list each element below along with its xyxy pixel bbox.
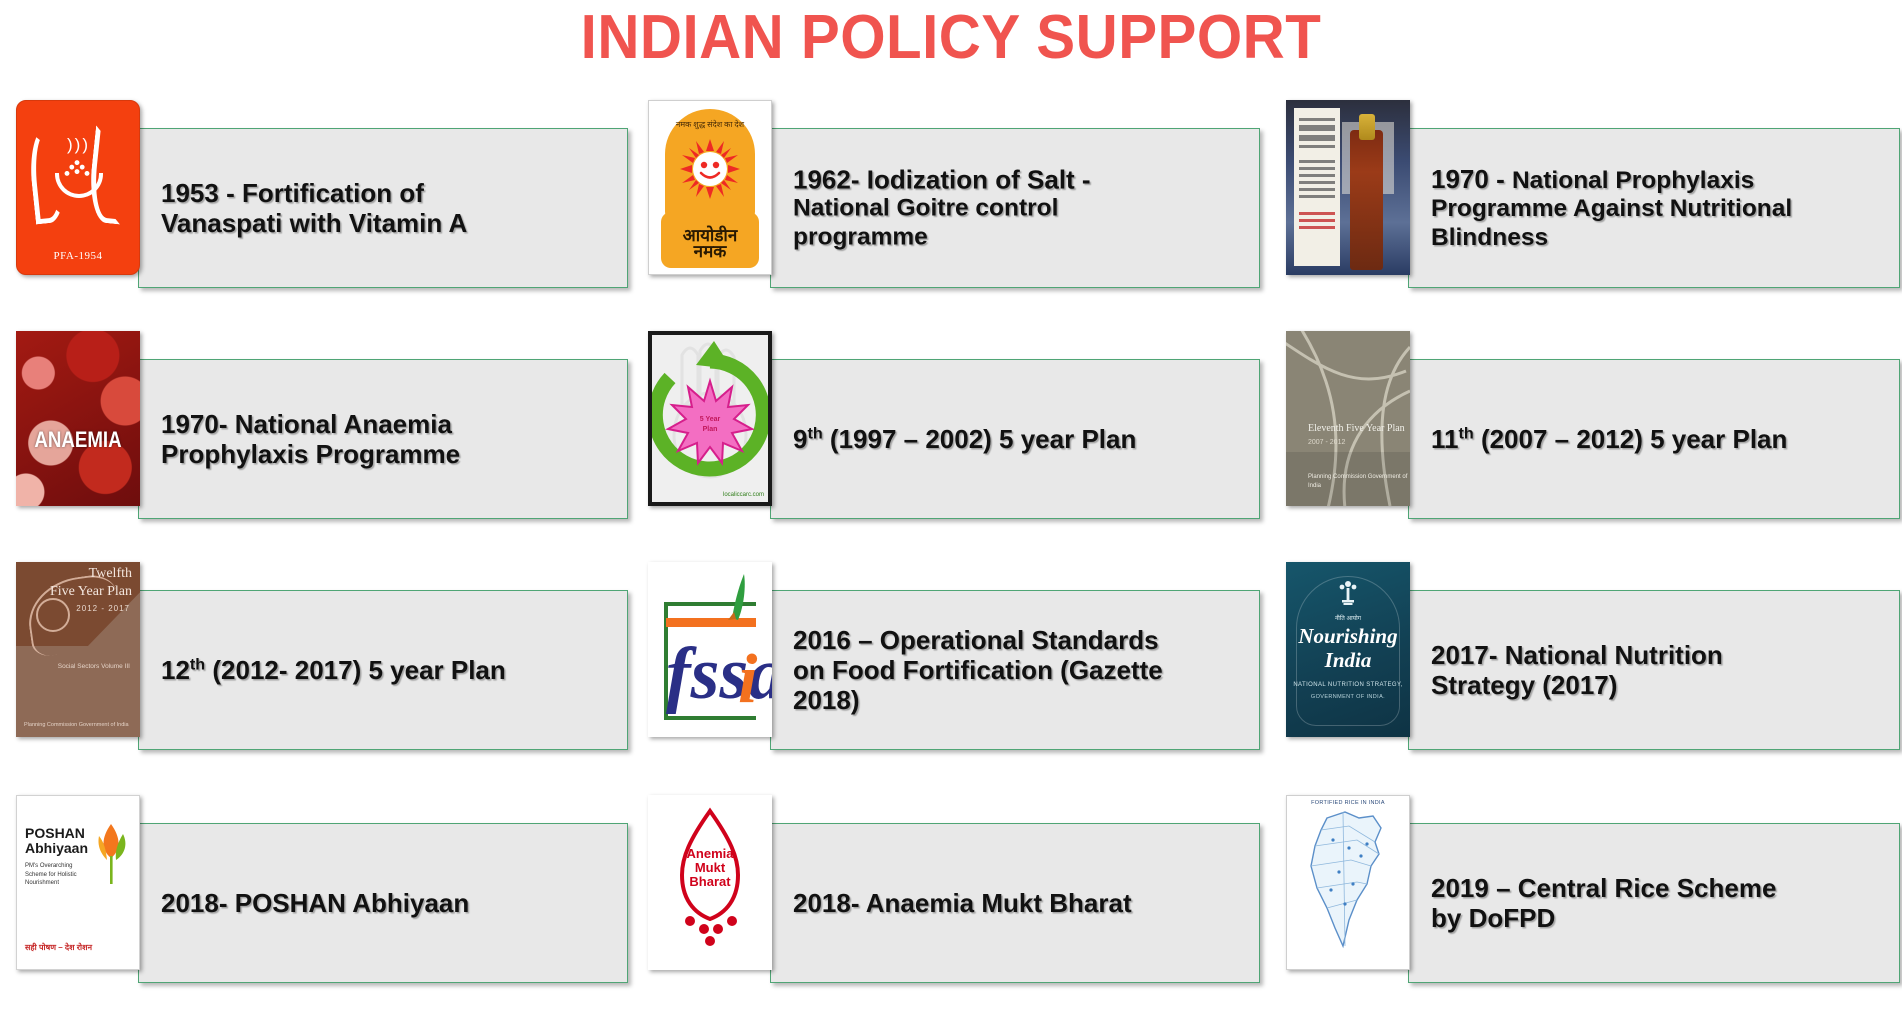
anemia-mukt-bharat-logo: Anemia Mukt Bharat — [648, 795, 772, 970]
card-rice-2019[interactable]: 2019 – Central Rice Scheme by DoFPD FORT… — [1278, 795, 1900, 995]
poshan-title: POSHAN Abhiyaan — [25, 826, 88, 855]
plan-ordinal-suffix: th — [190, 655, 205, 673]
card-twelfth-plan[interactable]: 12th (2012- 2017) 5 year Plan Twelfth Fi… — [8, 562, 628, 762]
vitamin-a-solution-bottle-photo — [1286, 100, 1410, 275]
card-panel: 2016 – Operational Standards on Food For… — [770, 590, 1260, 750]
cover-years: 2012 - 2017 — [76, 604, 130, 613]
poshan-abhiyaan-logo: POSHAN Abhiyaan PM's Overarching Scheme … — [16, 795, 140, 970]
card-line-1: 1970 - — [1431, 164, 1512, 194]
card-line-2: Strategy (2017) — [1431, 670, 1889, 700]
timeline-row-3: 12th (2012- 2017) 5 year Plan Twelfth Fi… — [0, 562, 1902, 762]
card-amb-2018[interactable]: 2018- Anaemia Mukt Bharat Anemia Mukt Bh… — [640, 795, 1260, 995]
card-text: 9th (1997 – 2002) 5 year Plan — [793, 424, 1249, 454]
hindi-line-2: नमक — [649, 244, 771, 260]
cover-strategy-line-1: NATIONAL NUTRITION STRATEGY, — [1286, 682, 1410, 688]
cover-publisher: Planning Commission Government of India — [24, 721, 129, 729]
card-panel: 11th (2007 – 2012) 5 year Plan — [1408, 359, 1900, 519]
card-line-1: 2016 – Operational Standards — [793, 625, 1249, 655]
card-line-2: National Goitre control — [793, 195, 1249, 223]
pfa-label: PFA-1954 — [17, 250, 139, 262]
card-line-1: 1970- National Anaemia — [161, 409, 617, 439]
bottle-gold-cap — [1359, 114, 1375, 140]
card-text: 1970 - National Prophylaxis Programme Ag… — [1431, 164, 1889, 252]
cover-strategy-line-2: GOVERNMENT OF INDIA. — [1286, 694, 1410, 700]
card-line-3: 2018) — [793, 685, 1249, 715]
five-year-plan-logo: 5 Year Plan localiccarc.com — [648, 331, 772, 506]
anaemia-word: ANAEMIA — [25, 427, 130, 453]
card-text: 1953 - Fortification of Vanaspati with V… — [161, 178, 617, 238]
card-text: 2018- POSHAN Abhiyaan — [161, 888, 617, 918]
cover-title: Eleventh Five Year Plan — [1308, 423, 1405, 434]
cover-gov-text: नीति आयोग — [1286, 614, 1410, 622]
poshan-title-line-2: Abhiyaan — [25, 841, 88, 856]
smiling-sun-icon — [680, 139, 740, 199]
amb-line-2: Mukt — [648, 861, 772, 875]
card-text: 11th (2007 – 2012) 5 year Plan — [1431, 424, 1889, 454]
card-line-1: 1953 - Fortification of — [161, 178, 617, 208]
cover-footer: Planning Commission Government of India — [1308, 473, 1410, 492]
poshan-subtitle: PM's Overarching Scheme for Holistic Nou… — [25, 862, 91, 888]
plan-graphic: 5 Year Plan — [652, 335, 768, 502]
logo-credit: localiccarc.com — [723, 492, 764, 498]
card-line-4: Blindness — [1431, 224, 1889, 252]
card-text: 12th (2012- 2017) 5 year Plan — [161, 655, 617, 685]
policy-timeline-grid: 1953 - Fortification of Vanaspati with V… — [0, 100, 1902, 1020]
card-text: 1962- Iodization of Salt - National Goit… — [793, 165, 1249, 252]
card-panel: 1970 - National Prophylaxis Programme Ag… — [1408, 128, 1900, 288]
card-text: 2018- Anaemia Mukt Bharat — [793, 888, 1249, 918]
plan-ordinal: 12 — [161, 655, 190, 685]
product-label — [1294, 108, 1340, 266]
eleventh-five-year-plan-cover: Eleventh Five Year Plan 2007 - 2012 Plan… — [1286, 331, 1410, 506]
card-panel: 12th (2012- 2017) 5 year Plan — [138, 590, 628, 750]
card-panel: 2018- POSHAN Abhiyaan — [138, 823, 628, 983]
card-line-3: Programme Against Nutritional — [1431, 195, 1889, 223]
poshan-tagline: सही पोषण – देश रोशन — [25, 942, 92, 953]
card-line-1: 2019 – Central Rice Scheme — [1431, 873, 1889, 903]
card-panel: 9th (1997 – 2002) 5 year Plan — [770, 359, 1260, 519]
fssai-logo: fssa i — [648, 562, 772, 737]
card-panel: 1962- Iodization of Salt - National Goit… — [770, 128, 1260, 288]
amber-bottle — [1350, 130, 1383, 270]
anaemia-red-blood-cells-image: ANAEMIA — [16, 331, 140, 506]
card-line-1: 1962- Iodization of Salt - — [793, 165, 1249, 195]
map-header-text: FORTIFIED RICE IN INDIA — [1287, 800, 1409, 806]
iodized-salt-logo: नमक शुद्ध संदेश का देश — [648, 100, 772, 275]
card-panel: 2017- National Nutrition Strategy (2017) — [1408, 590, 1900, 750]
ashoka-emblem-icon — [1337, 578, 1359, 610]
cover-title-line-1: Twelfth — [89, 566, 132, 582]
card-panel: 1953 - Fortification of Vanaspati with V… — [138, 128, 628, 288]
india-map-icon — [1287, 796, 1410, 970]
india-map-rice-scheme: FORTIFIED RICE IN INDIA — [1286, 795, 1410, 970]
plan-ordinal: 11 — [1431, 424, 1459, 454]
card-line-1: 2017- National Nutrition — [1431, 640, 1889, 670]
steam-icon: ))) — [67, 135, 90, 155]
card-text: 2017- National Nutrition Strategy (2017) — [1431, 640, 1889, 700]
plan-range: (2012- 2017) 5 year Plan — [205, 655, 506, 685]
timeline-row-1: 1953 - Fortification of Vanaspati with V… — [0, 100, 1902, 300]
card-line-group: 9th (1997 – 2002) 5 year Plan — [793, 424, 1249, 454]
card-fssai-2016[interactable]: 2016 – Operational Standards on Food For… — [640, 562, 1260, 762]
plan-ordinal-suffix: th — [807, 424, 822, 442]
card-panel: 2019 – Central Rice Scheme by DoFPD — [1408, 823, 1900, 983]
fssai-wordmark-icon: fssa i — [648, 562, 772, 737]
card-iodization-1962[interactable]: 1962- Iodization of Salt - National Goit… — [640, 100, 1260, 300]
card-ninth-plan[interactable]: 9th (1997 – 2002) 5 year Plan 5 Year Pla… — [640, 331, 1260, 531]
poshan-leaf-flame-icon — [89, 818, 133, 888]
cover-script-line-2: India — [1286, 648, 1410, 673]
card-nns-2017[interactable]: 2017- National Nutrition Strategy (2017) — [1278, 562, 1900, 762]
plan-ordinal-suffix: th — [1459, 424, 1474, 442]
card-pfa-1953[interactable]: 1953 - Fortification of Vanaspati with V… — [8, 100, 628, 300]
cover-script-line-1: Nourishing — [1286, 624, 1410, 649]
amb-line-3: Bharat — [648, 875, 772, 889]
card-line-group-1: 1970 - National Prophylaxis — [1431, 164, 1889, 195]
card-line-3: programme — [793, 223, 1249, 251]
card-line-2: National Prophylaxis — [1512, 167, 1754, 194]
poshan-title-line-1: POSHAN — [25, 826, 88, 841]
logo-arc-text: नमक शुद्ध संदेश का देश — [649, 119, 771, 130]
card-poshan-2018[interactable]: 2018- POSHAN Abhiyaan POSHAN Abhiyaan PM… — [8, 795, 628, 995]
plan-range: (1997 – 2002) 5 year Plan — [823, 424, 1137, 454]
cover-subtitle: 2007 - 2012 — [1308, 439, 1345, 446]
amb-wordmark: Anemia Mukt Bharat — [648, 847, 772, 889]
card-line-group: 11th (2007 – 2012) 5 year Plan — [1431, 424, 1889, 454]
timeline-row-4: 2018- POSHAN Abhiyaan POSHAN Abhiyaan PM… — [0, 795, 1902, 995]
card-line-2: by DoFPD — [1431, 903, 1889, 933]
card-panel: 1970- National Anaemia Prophylaxis Progr… — [138, 359, 628, 519]
card-panel: 2018- Anaemia Mukt Bharat — [770, 823, 1260, 983]
card-line-2: on Food Fortification (Gazette — [793, 655, 1249, 685]
card-text: 2019 – Central Rice Scheme by DoFPD — [1431, 873, 1889, 933]
svg-text:5 Year: 5 Year — [700, 416, 721, 423]
card-eleventh-plan[interactable]: 11th (2007 – 2012) 5 year Plan Eleventh … — [1278, 331, 1900, 531]
card-line-1: 2018- POSHAN Abhiyaan — [161, 888, 617, 918]
plan-ordinal: 9 — [793, 424, 807, 454]
card-line-2: Vanaspati with Vitamin A — [161, 208, 617, 238]
cover-title-line-2: Five Year Plan — [50, 584, 132, 600]
card-line-1: 2018- Anaemia Mukt Bharat — [793, 888, 1249, 918]
nourishing-india-cover: नीति आयोग Nourishing India NATIONAL NUTR… — [1286, 562, 1410, 737]
cover-volume: Social Sectors Volume III — [58, 662, 130, 672]
svg-text:Plan: Plan — [703, 426, 718, 433]
card-vitamin-a-1970[interactable]: 1970 - National Prophylaxis Programme Ag… — [1278, 100, 1900, 300]
timeline-row-2: 1970- National Anaemia Prophylaxis Progr… — [0, 331, 1902, 531]
amb-line-1: Anemia — [648, 847, 772, 861]
card-text: 1970- National Anaemia Prophylaxis Progr… — [161, 409, 617, 469]
svg-text:i: i — [738, 641, 758, 718]
logo-hindi-text: आयोडीन नमक — [649, 228, 771, 260]
card-anaemia-1970[interactable]: 1970- National Anaemia Prophylaxis Progr… — [8, 331, 628, 531]
page-title: INDIAN POLICY SUPPORT — [57, 2, 1845, 73]
card-line-2: Prophylaxis Programme — [161, 439, 617, 469]
plan-range: (2007 – 2012) 5 year Plan — [1474, 424, 1788, 454]
blood-cells-texture — [16, 331, 140, 506]
pfa-1954-emblem: ))) PFA-1954 — [16, 100, 140, 275]
card-text: 2016 – Operational Standards on Food For… — [793, 625, 1249, 715]
twelfth-five-year-plan-cover: Twelfth Five Year Plan 2012 - 2017 Socia… — [16, 562, 140, 737]
card-line-group: 12th (2012- 2017) 5 year Plan — [161, 655, 617, 685]
cover-script-loop-icon — [36, 598, 70, 632]
